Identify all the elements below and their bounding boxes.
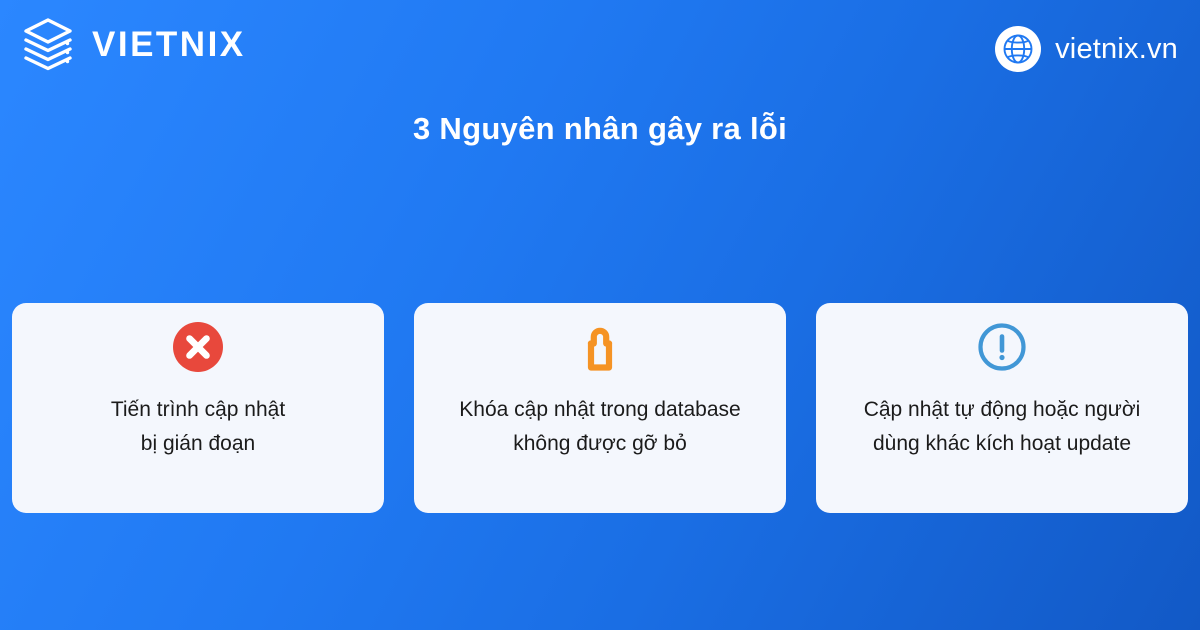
reason-card-1: Tiến trình cập nhật bị gián đoạn [12, 303, 384, 513]
stacked-layers-logo-icon [18, 14, 78, 74]
poster-canvas: VIETNIX vietnix.vn 3 Nguyên nhân gây ra … [0, 0, 1200, 630]
reason-card-2: Khóa cập nhật trong database không được … [414, 303, 786, 513]
reason-card-text: Cập nhật tự động hoặc người dùng khác kí… [852, 393, 1153, 461]
site-domain-label: vietnix.vn [1055, 35, 1178, 64]
reason-card-3: Cập nhật tự động hoặc người dùng khác kí… [816, 303, 1188, 513]
brand-logo[interactable]: VIETNIX [18, 14, 246, 74]
page-title: 3 Nguyên nhân gây ra lỗi [0, 110, 1200, 149]
globe-icon [995, 26, 1041, 72]
brand-wordmark: VIETNIX [92, 27, 246, 62]
reason-card-text: Khóa cập nhật trong database không được … [447, 393, 752, 461]
site-domain[interactable]: vietnix.vn [995, 26, 1178, 72]
exclamation-circle-icon [976, 321, 1028, 373]
reason-card-text: Tiến trình cập nhật bị gián đoạn [99, 393, 297, 461]
reasons-card-row: Tiến trình cập nhật bị gián đoạn Khóa cậ… [12, 303, 1188, 513]
error-circle-x-icon [172, 321, 224, 373]
padlock-icon [574, 321, 626, 373]
